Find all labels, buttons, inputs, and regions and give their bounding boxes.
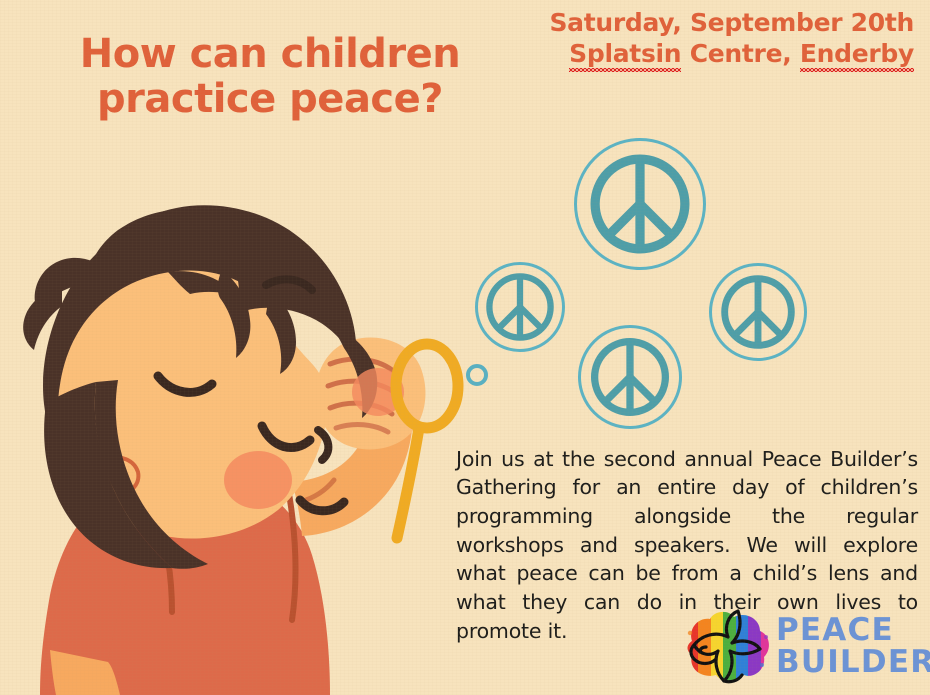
peace-sign-icon xyxy=(574,138,706,270)
peace-bubble-right xyxy=(709,263,807,361)
misspelled-word-splatsin: Splatsin xyxy=(569,39,681,70)
venue-middle-text: Centre, xyxy=(681,39,800,68)
peace-bubble-large xyxy=(574,138,706,270)
peace-sign-icon xyxy=(475,262,565,352)
logo-wordmark: PEACE BUILDERS xyxy=(776,615,930,678)
peace-bubble-bottom xyxy=(578,325,682,429)
logo-line-peace: PEACE xyxy=(776,615,930,647)
peace-sign-icon xyxy=(709,263,807,361)
misspelled-word-enderby: Enderby xyxy=(800,39,914,70)
rainbow-dove-icon xyxy=(680,607,776,687)
headline-line-2: practice peace? xyxy=(60,77,480,122)
event-venue: Splatsin Centre, Enderby xyxy=(549,39,914,70)
headline-line-1: How can children xyxy=(60,32,480,77)
event-details: Saturday, September 20th Splatsin Centre… xyxy=(549,8,914,69)
peace-bubble-small-left xyxy=(475,262,565,352)
peace-builders-logo: PEACE BUILDERS xyxy=(680,605,922,689)
poster-canvas: How can children practice peace? Saturda… xyxy=(0,0,930,695)
page-title: How can children practice peace? xyxy=(60,32,480,122)
peace-sign-icon xyxy=(578,325,682,429)
logo-line-builders: BUILDERS xyxy=(776,647,930,679)
event-date: Saturday, September 20th xyxy=(549,8,914,39)
